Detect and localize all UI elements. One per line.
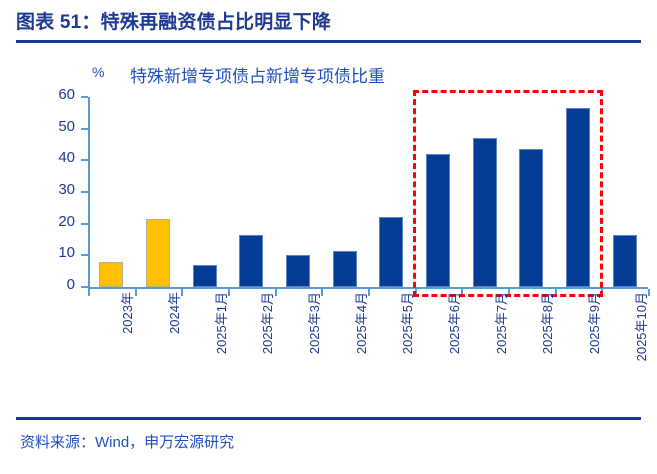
bar-2025年4月	[333, 251, 357, 287]
x-tick-label: 2025年7月	[491, 292, 510, 354]
y-tick-label: 10	[58, 244, 75, 261]
bar-series	[88, 97, 648, 287]
figure-header: 图表 51：特殊再融资债占比明显下降	[16, 10, 641, 46]
bar-2025年5月	[379, 217, 403, 287]
x-tick-label: 2025年9月	[584, 292, 603, 354]
figure-page: 图表 51：特殊再融资债占比明显下降 % 特殊新增专项债占新增专项债比重 010…	[0, 0, 657, 474]
bar-2025年6月	[426, 154, 450, 287]
chart-container: % 特殊新增专项债占新增专项债比重 0102030405060 2023年202…	[0, 52, 657, 412]
y-axis-unit-label: %	[92, 64, 104, 80]
y-tick-label: 0	[67, 276, 75, 293]
bar-2025年10月	[613, 235, 637, 287]
y-tick: 50	[81, 128, 88, 130]
y-tick: 20	[81, 223, 88, 225]
y-tick: 0	[81, 286, 88, 288]
x-tick-label: 2025年8月	[537, 292, 556, 354]
x-tick-label: 2025年5月	[397, 292, 416, 354]
x-tick-label: 2024年	[164, 292, 183, 334]
footer-divider	[16, 417, 641, 420]
bar-2023年	[99, 262, 123, 287]
source-note: 资料来源：Wind，申万宏源研究	[20, 431, 234, 452]
bar-2025年3月	[286, 255, 310, 287]
bar-2025年7月	[473, 138, 497, 287]
x-tick-label: 2025年3月	[304, 292, 323, 354]
plot-area: 0102030405060	[88, 97, 648, 287]
y-tick-label: 50	[58, 118, 75, 135]
y-tick-label: 30	[58, 181, 75, 198]
y-tick: 10	[81, 254, 88, 256]
bar-2024年	[146, 219, 170, 287]
x-tick-label: 2023年	[117, 292, 136, 334]
y-tick: 40	[81, 159, 88, 161]
y-tick-label: 60	[58, 86, 75, 103]
x-tick-label: 2025年1月	[211, 292, 230, 354]
bar-2025年9月	[566, 108, 590, 287]
y-tick-label: 20	[58, 213, 75, 230]
y-tick: 30	[81, 191, 88, 193]
x-tick-label: 2025年4月	[351, 292, 370, 354]
x-tick-label: 2025年6月	[444, 292, 463, 354]
x-tick-label: 2025年10月	[631, 292, 650, 361]
y-tick: 60	[81, 96, 88, 98]
chart-title: 特殊新增专项债占新增专项债比重	[130, 62, 385, 87]
y-tick-label: 40	[58, 149, 75, 166]
bar-2025年2月	[239, 235, 263, 287]
header-divider	[16, 40, 641, 43]
bar-2025年8月	[519, 149, 543, 287]
bar-2025年1月	[193, 265, 217, 287]
figure-title: 图表 51：特殊再融资债占比明显下降	[16, 10, 641, 36]
x-tick-label: 2025年2月	[257, 292, 276, 354]
x-axis-labels: 2023年2024年2025年1月2025年2月2025年3月2025年4月20…	[88, 292, 648, 402]
